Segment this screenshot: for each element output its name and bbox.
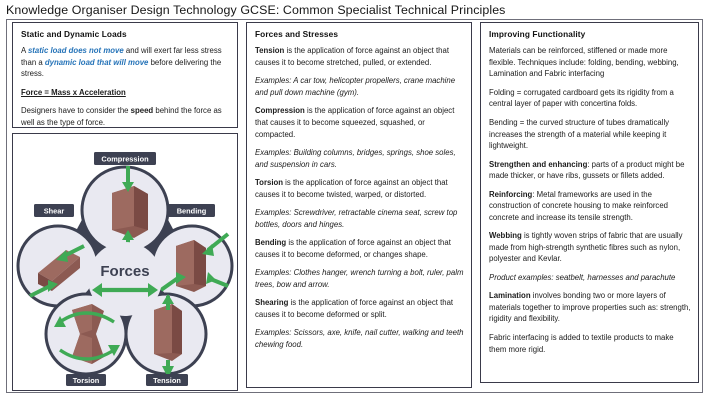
torsion-text: is the application of force against an o… (255, 178, 448, 199)
static-dynamic-loads-heading: Static and Dynamic Loads (21, 29, 230, 39)
tension-text: is the application of force against an o… (255, 46, 449, 67)
forces-and-stresses-heading: Forces and Stresses (255, 29, 464, 39)
tension-definition: Tension is the application of force agai… (255, 45, 464, 68)
bending-examples: Examples: Clothes hanger, wrench turning… (255, 267, 464, 290)
reinforcing-paragraph: Reinforcing: Metal frameworks are used i… (489, 189, 691, 224)
speed-emphasis: speed (131, 106, 154, 115)
force-formula: Force = Mass x Acceleration (21, 87, 230, 99)
static-load-phrase: static load does not move (28, 46, 124, 55)
static-dynamic-loads-box: Static and Dynamic Loads A static load d… (12, 22, 238, 128)
column-improving-functionality: Improving Functionality Materials can be… (480, 22, 699, 391)
lamination-term: Lamination (489, 291, 531, 300)
para2-a: Designers have to consider the (21, 106, 131, 115)
designers-paragraph: Designers have to consider the speed beh… (21, 105, 230, 128)
folding-text: Folding = corrugated cardboard gets its … (489, 87, 691, 110)
strengthen-term: Strengthen and enhancing (489, 160, 587, 169)
knowledge-organiser-page: Knowledge Organiser Design Technology GC… (0, 0, 711, 400)
dynamic-load-phrase: dynamic load that will move (45, 58, 149, 67)
column-forces-and-stresses: Forces and Stresses Tension is the appli… (246, 22, 472, 391)
static-dynamic-loads-paragraph: A static load does not move and will exe… (21, 45, 230, 80)
shearing-examples: Examples: Scissors, axe, knife, nail cut… (255, 327, 464, 350)
bending-block-icon (176, 240, 206, 292)
compression-examples: Examples: Building columns, bridges, spr… (255, 147, 464, 170)
compression-definition: Compression is the application of force … (255, 105, 464, 140)
fabric-interfacing-text: Fabric interfacing is added to textile p… (489, 332, 691, 355)
diagram-center-label: Forces (100, 263, 149, 280)
forces-diagram-box: Compression (12, 133, 238, 391)
forces-and-stresses-box: Forces and Stresses Tension is the appli… (246, 22, 472, 388)
strengthen-paragraph: Strengthen and enhancing: parts of a pro… (489, 159, 691, 182)
compression-term: Compression (255, 106, 305, 115)
improving-functionality-box: Improving Functionality Materials can be… (480, 22, 699, 383)
torsion-term: Torsion (255, 178, 283, 187)
column-static-dynamic-loads: Static and Dynamic Loads A static load d… (12, 22, 238, 391)
columns-container: Static and Dynamic Loads A static load d… (12, 22, 699, 391)
page-title: Knowledge Organiser Design Technology GC… (6, 3, 505, 17)
tension-term: Tension (255, 46, 284, 55)
tension-block-icon (154, 304, 182, 361)
bending-definition: Bending is the application of force agai… (255, 237, 464, 260)
product-examples: Product examples: seatbelt, harnesses an… (489, 272, 691, 284)
reinforcing-term: Reinforcing (489, 190, 532, 199)
para1-a: A (21, 46, 28, 55)
compression-block-icon (112, 186, 148, 238)
torsion-definition: Torsion is the application of force agai… (255, 177, 464, 200)
compression-label: Compression (101, 155, 149, 164)
lamination-paragraph: Lamination involves bonding two or more … (489, 290, 691, 325)
bending-label: Bending (177, 207, 207, 216)
tension-examples: Examples: A car tow, helicopter propelle… (255, 75, 464, 98)
shearing-term: Shearing (255, 298, 288, 307)
webbing-paragraph: Webbing is tightly woven strips of fabri… (489, 230, 691, 265)
diagram-center-node: Forces (88, 242, 162, 316)
forces-diagram: Compression (16, 137, 234, 387)
force-formula-text: Force = Mass x Acceleration (21, 88, 126, 97)
bending-text-col3: Bending = the curved structure of tubes … (489, 117, 691, 152)
bending-term: Bending (255, 238, 286, 247)
tension-label: Tension (153, 376, 181, 385)
webbing-term: Webbing (489, 231, 522, 240)
improving-functionality-heading: Improving Functionality (489, 29, 691, 39)
shear-label: Shear (44, 207, 65, 216)
torsion-label: Torsion (73, 376, 100, 385)
torsion-examples: Examples: Screwdriver, retractable cinem… (255, 207, 464, 230)
shearing-definition: Shearing is the application of force aga… (255, 297, 464, 320)
materials-intro: Materials can be reinforced, stiffened o… (489, 45, 691, 80)
